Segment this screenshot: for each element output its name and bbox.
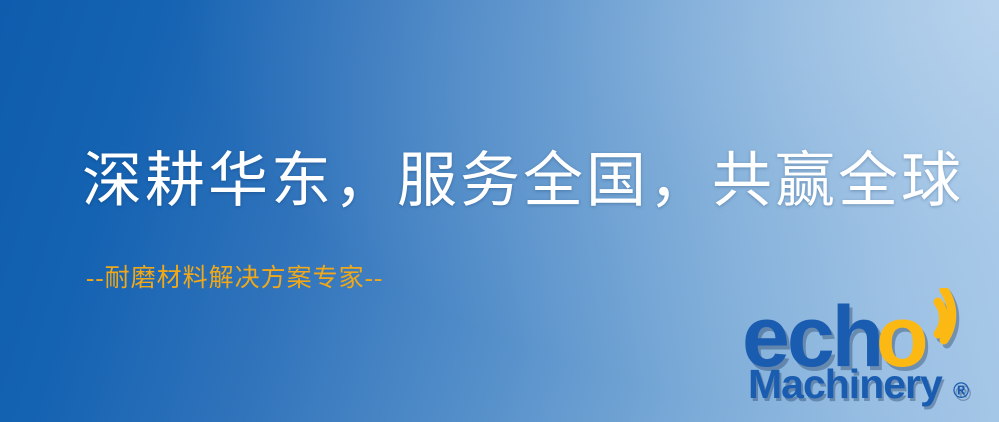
svg-text:®: ®: [953, 378, 969, 403]
company-logo[interactable]: ech ech o o: [742, 288, 992, 416]
logo-tagline-machinery: Machinery ® Machinery ®: [748, 362, 992, 410]
svg-text:Machinery: Machinery: [748, 362, 943, 407]
promotional-banner: 深耕华东，服务全国，共赢全球 --耐磨材料解决方案专家-- ech ech o …: [0, 0, 999, 422]
banner-headline: 深耕华东，服务全国，共赢全球: [82, 151, 964, 211]
wifi-signal-icon: [938, 290, 952, 340]
banner-subtitle: --耐磨材料解决方案专家--: [86, 266, 383, 291]
